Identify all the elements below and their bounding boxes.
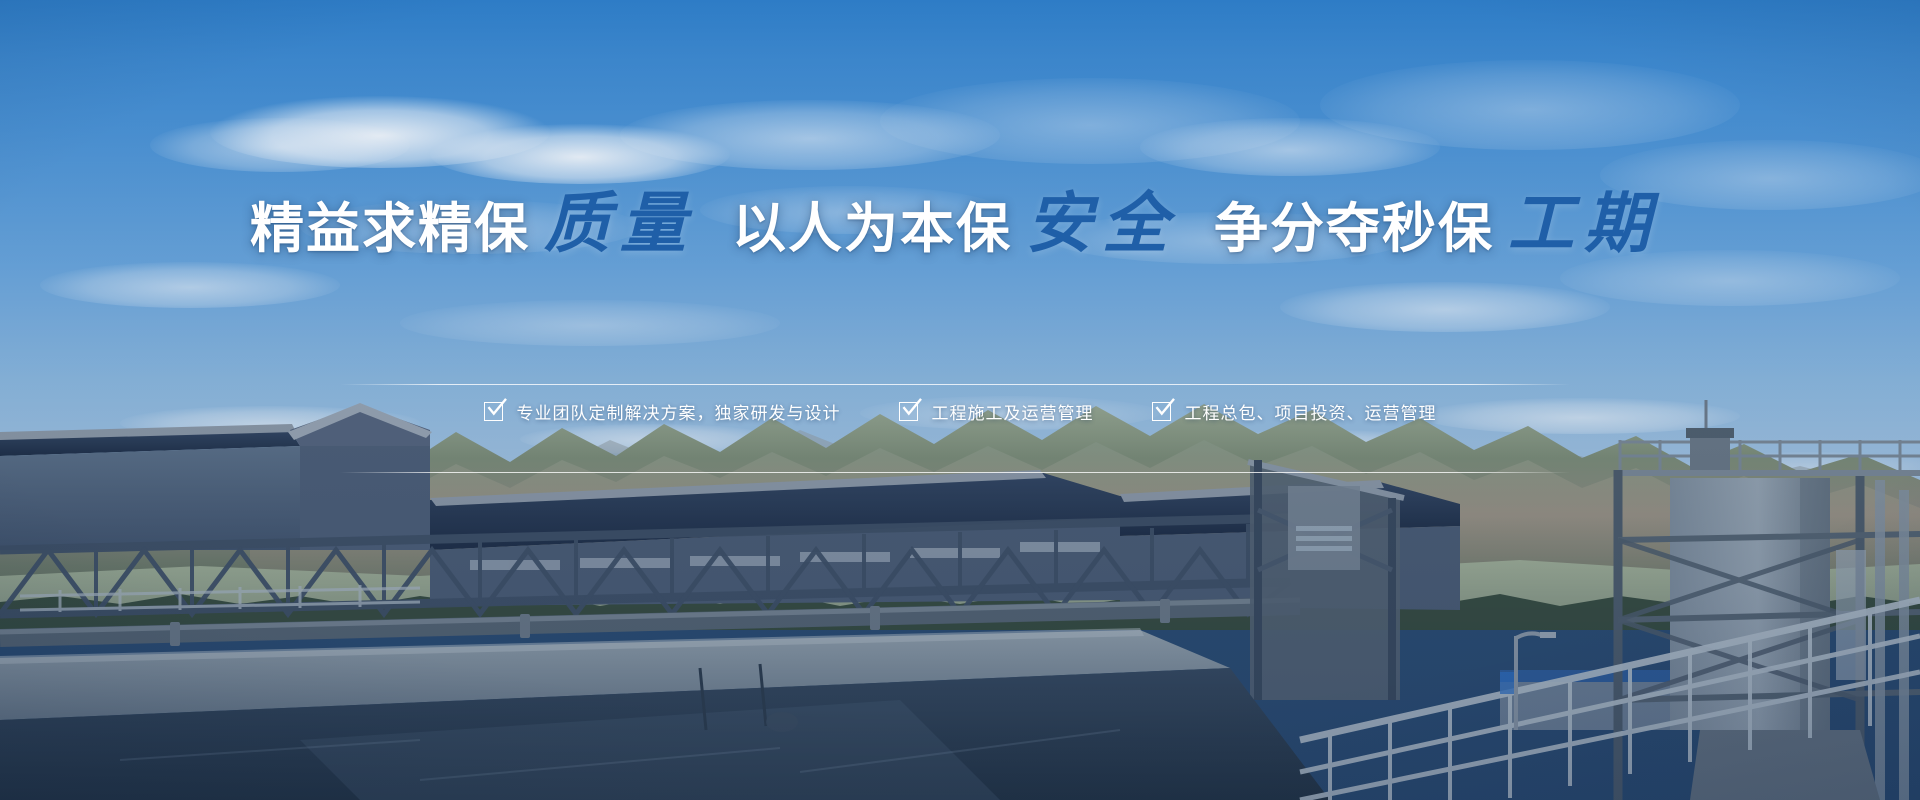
plant-building-left bbox=[0, 403, 432, 550]
bridge-end-frame bbox=[1248, 460, 1404, 700]
hero-banner: 精益求精保质量以人为本保安全争分夺秒保工期 专业团队定制解决方案，独家研发与设计 bbox=[0, 0, 1920, 800]
wastewater-treatment-plant-scene bbox=[0, 400, 1920, 800]
sedimentation-basin bbox=[0, 628, 1330, 800]
plant-tower-structure bbox=[1618, 400, 1920, 800]
